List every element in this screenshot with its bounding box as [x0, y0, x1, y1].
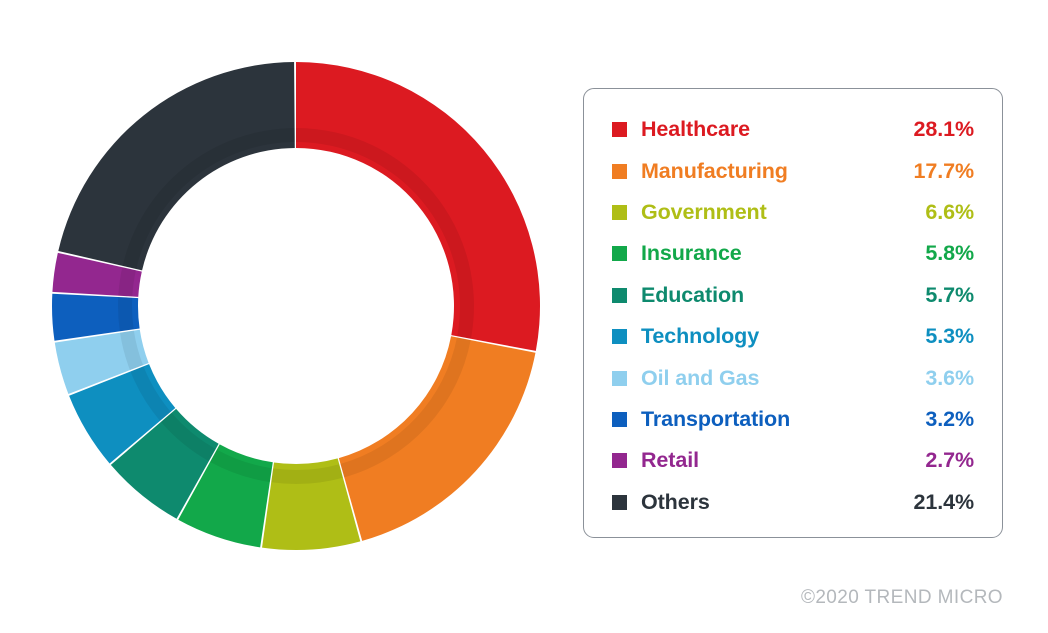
legend-swatch-icon	[612, 329, 627, 344]
legend-value: 5.7%	[925, 283, 982, 308]
legend-item[interactable]: Government6.6%	[612, 192, 982, 233]
legend-label: Government	[641, 200, 925, 225]
legend-label: Healthcare	[641, 117, 914, 142]
copyright-notice: ©2020 TREND MICRO	[801, 587, 1003, 609]
legend-item[interactable]: Technology5.3%	[612, 316, 982, 357]
legend-swatch-icon	[612, 412, 627, 427]
legend-value: 3.6%	[925, 366, 982, 391]
legend-item[interactable]: Manufacturing17.7%	[612, 150, 982, 191]
donut-chart	[40, 50, 552, 562]
donut-segment[interactable]	[296, 62, 540, 351]
legend-value: 21.4%	[914, 490, 982, 515]
legend-item[interactable]: Education5.7%	[612, 275, 982, 316]
legend-item[interactable]: Healthcare28.1%	[612, 109, 982, 150]
legend-label: Others	[641, 490, 914, 515]
legend-value: 17.7%	[914, 159, 982, 184]
legend-label: Insurance	[641, 241, 925, 266]
legend-label: Transportation	[641, 407, 925, 432]
legend-label: Technology	[641, 324, 925, 349]
legend-item[interactable]: Oil and Gas3.6%	[612, 357, 982, 398]
legend-swatch-icon	[612, 495, 627, 510]
legend-swatch-icon	[612, 453, 627, 468]
legend-swatch-icon	[612, 122, 627, 137]
legend-item[interactable]: Others21.4%	[612, 482, 982, 523]
donut-segment[interactable]	[58, 62, 294, 270]
legend-item[interactable]: Transportation3.2%	[612, 399, 982, 440]
legend-value: 28.1%	[914, 117, 982, 142]
legend-item[interactable]: Insurance5.8%	[612, 233, 982, 274]
legend-label: Manufacturing	[641, 159, 914, 184]
donut-chart-svg	[40, 50, 552, 562]
legend-value: 6.6%	[925, 200, 982, 225]
legend-swatch-icon	[612, 246, 627, 261]
legend-label: Oil and Gas	[641, 366, 925, 391]
legend-item[interactable]: Retail2.7%	[612, 440, 982, 481]
donut-segment[interactable]	[339, 336, 536, 541]
legend-value: 3.2%	[925, 407, 982, 432]
donut-chart-figure: Healthcare28.1%Manufacturing17.7%Governm…	[0, 0, 1048, 633]
legend-panel: Healthcare28.1%Manufacturing17.7%Governm…	[583, 88, 1003, 538]
legend-swatch-icon	[612, 288, 627, 303]
legend-swatch-icon	[612, 371, 627, 386]
legend-swatch-icon	[612, 164, 627, 179]
legend-value: 2.7%	[925, 448, 982, 473]
donut-segment-shading	[118, 297, 134, 331]
legend-label: Retail	[641, 448, 925, 473]
legend-label: Education	[641, 283, 925, 308]
legend-value: 5.8%	[925, 241, 982, 266]
legend-swatch-icon	[612, 205, 627, 220]
donut-segment-group	[52, 62, 540, 550]
legend-value: 5.3%	[925, 324, 982, 349]
legend-list: Healthcare28.1%Manufacturing17.7%Governm…	[612, 109, 982, 523]
